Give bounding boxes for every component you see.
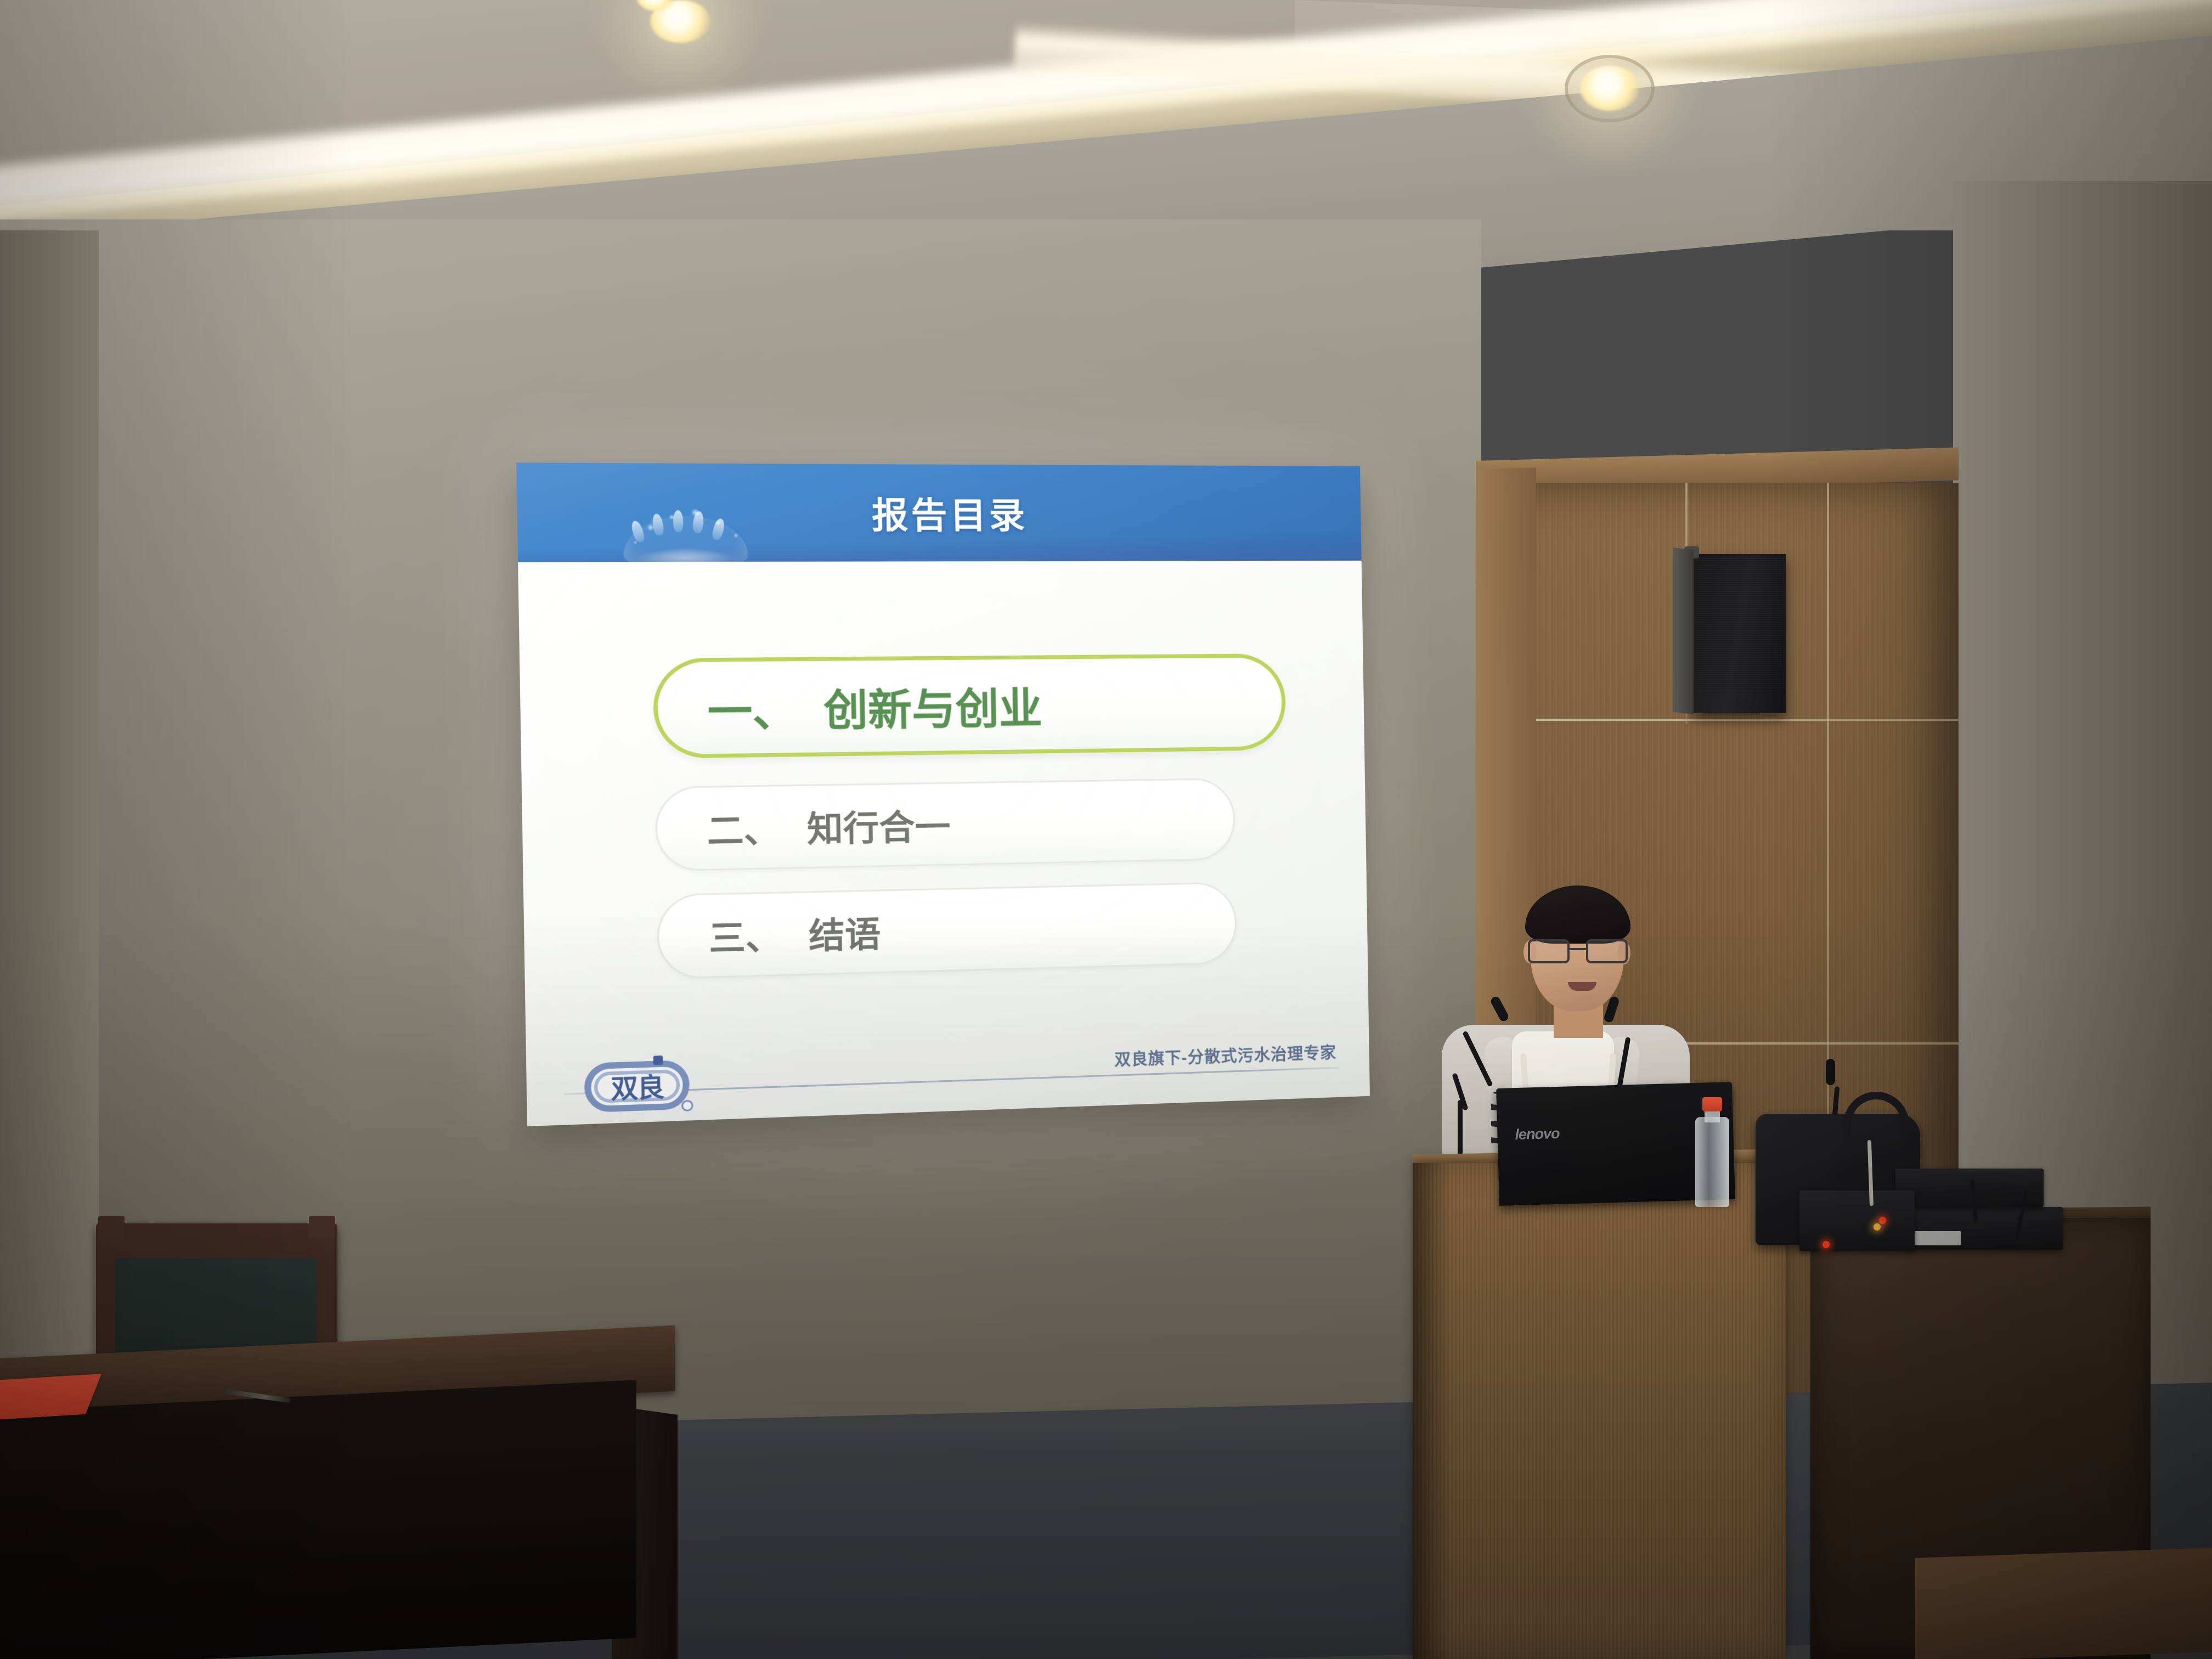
glasses-icon — [1528, 939, 1628, 964]
toc-item-2[interactable]: 二、 知行合一 — [655, 778, 1236, 872]
wall-speaker-icon — [1692, 554, 1786, 713]
company-logo-text: 双良 — [584, 1060, 690, 1113]
toc-item-1-number: 一、 — [707, 676, 798, 740]
slide-header-band: 报告目录 — [516, 462, 1362, 562]
conference-room-scene: 报告目录 一、 创新与创业 二、 知行合一 三、 结语 — [0, 0, 2212, 1659]
right-side-table — [1915, 1547, 2212, 1659]
left-wall-edge — [0, 230, 99, 1465]
toc-item-2-label: 知行合一 — [806, 798, 951, 852]
status-led-3 — [1822, 1241, 1830, 1248]
table — [0, 1361, 675, 1659]
presentation-slide[interactable]: 报告目录 一、 创新与创业 二、 知行合一 三、 结语 — [516, 462, 1370, 1126]
wireless-receiver-2 — [1895, 1169, 2044, 1207]
toc-item-3-label: 结语 — [808, 906, 881, 958]
toc-item-1[interactable]: 一、 创新与创业 — [653, 653, 1286, 759]
company-logo: 双良 — [584, 1060, 690, 1113]
wireless-receiver-1 — [1904, 1207, 2063, 1250]
slide-body: 一、 创新与创业 二、 知行合一 三、 结语 — [518, 561, 1368, 1041]
status-led-1 — [1879, 1217, 1886, 1224]
slide-title: 报告目录 — [517, 486, 1361, 538]
projection-screen[interactable]: 报告目录 一、 创新与创业 二、 知行合一 三、 结语 — [516, 462, 1370, 1126]
toc-item-3[interactable]: 三、 结语 — [657, 882, 1237, 979]
footer-slogan: 双良旗下-分散式污水治理专家 — [1114, 1040, 1336, 1071]
spotlight-right-icon — [1580, 66, 1639, 111]
amplifier-unit — [1799, 1190, 1915, 1251]
toc-item-3-number: 三、 — [708, 909, 782, 962]
toc-item-2-number: 二、 — [707, 802, 781, 854]
podium-shadow — [1413, 1163, 1451, 1659]
toc-item-1-label: 创新与创业 — [823, 674, 1042, 738]
status-led-2 — [1874, 1223, 1881, 1231]
podium — [1413, 1163, 1786, 1659]
laptop-brand-label: lenovo — [1515, 1125, 1560, 1143]
water-bottle — [1695, 1097, 1729, 1207]
